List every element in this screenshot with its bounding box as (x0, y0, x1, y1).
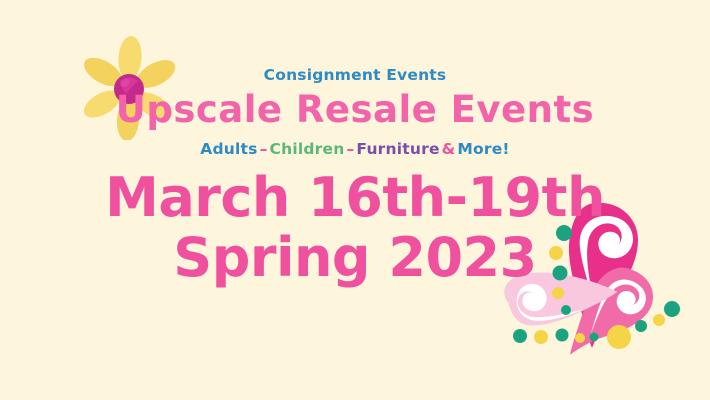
tagline-separator-1: – (258, 140, 270, 158)
tagline-furniture: Furniture (356, 140, 439, 158)
flyer-text-block: Consignment Events Upscale Resale Events… (0, 0, 710, 400)
eyebrow-text: Consignment Events (0, 66, 710, 84)
event-season-line: Spring 2023 (0, 226, 710, 289)
tagline: Adults–Children–Furniture&More! (0, 140, 710, 158)
tagline-adults: Adults (200, 140, 257, 158)
tagline-more: More! (457, 140, 509, 158)
tagline-separator-2: – (344, 140, 356, 158)
tagline-children: Children (270, 140, 345, 158)
event-date-line: March 16th-19th (0, 166, 710, 229)
tagline-ampersand: & (440, 140, 458, 158)
brand-title: Upscale Resale Events (0, 88, 710, 131)
promo-flyer: Consignment Events Upscale Resale Events… (0, 0, 710, 400)
